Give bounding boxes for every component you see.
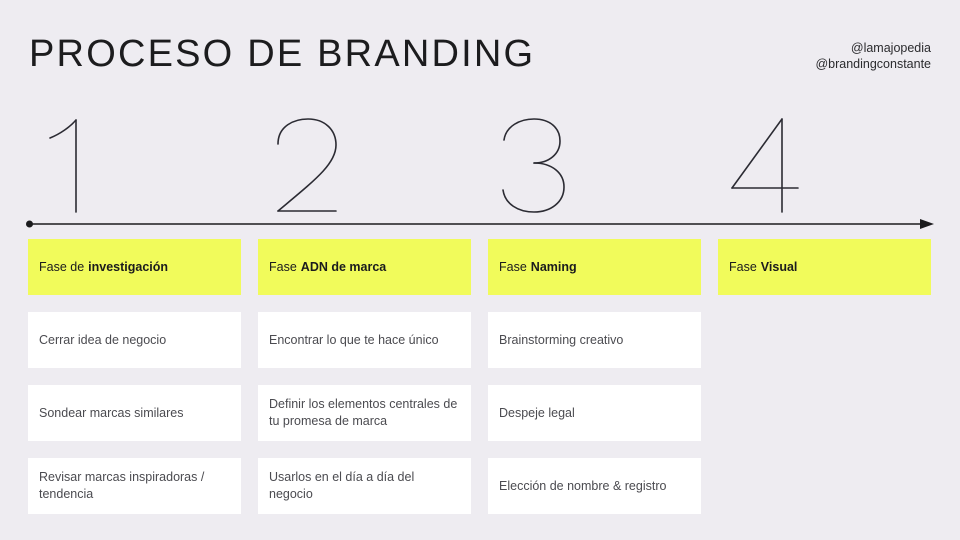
phase-header-2[interactable]: Fase ADN de marca bbox=[258, 239, 471, 295]
step-card[interactable]: Encontrar lo que te hace único bbox=[258, 312, 471, 368]
step-card[interactable]: Usarlos en el día a día del negocio bbox=[258, 458, 471, 514]
phase-prefix: Fase bbox=[729, 260, 757, 274]
step-card[interactable]: Revisar marcas inspiradoras / tendencia bbox=[28, 458, 241, 514]
page-title: PROCESO DE BRANDING bbox=[29, 31, 535, 77]
phase-name: ADN de marca bbox=[301, 260, 386, 274]
phase-prefix: Fase de bbox=[39, 260, 84, 274]
phase-name: Naming bbox=[531, 260, 577, 274]
step-card[interactable]: Definir los elementos centrales de tu pr… bbox=[258, 385, 471, 441]
phase-name: investigación bbox=[88, 260, 168, 274]
phase-column-3: Fase Naming Brainstorming creativo Despe… bbox=[488, 239, 701, 514]
phase-column-4: Fase Visual bbox=[718, 239, 931, 514]
phase-prefix: Fase bbox=[269, 260, 297, 274]
handle-primary: @lamajopedia bbox=[815, 40, 931, 56]
phase-column-1: Fase de investigación Cerrar idea de neg… bbox=[28, 239, 241, 514]
timeline-arrow bbox=[26, 216, 936, 232]
step-number-2 bbox=[268, 118, 388, 214]
step-card[interactable]: Cerrar idea de negocio bbox=[28, 312, 241, 368]
step-card[interactable]: Elección de nombre & registro bbox=[488, 458, 701, 514]
phase-header-4[interactable]: Fase Visual bbox=[718, 239, 931, 295]
phase-columns: Fase de investigación Cerrar idea de neg… bbox=[28, 239, 932, 514]
social-handles: @lamajopedia @brandingconstante bbox=[815, 40, 931, 72]
phase-name: Visual bbox=[761, 260, 798, 274]
step-number-1 bbox=[38, 118, 158, 214]
step-number-3 bbox=[496, 118, 616, 214]
step-card[interactable]: Despeje legal bbox=[488, 385, 701, 441]
handle-secondary: @brandingconstante bbox=[815, 56, 931, 72]
slide-canvas: PROCESO DE BRANDING @lamajopedia @brandi… bbox=[0, 0, 960, 540]
step-number-row bbox=[28, 118, 932, 214]
phase-prefix: Fase bbox=[499, 260, 527, 274]
timeline-arrowhead bbox=[920, 219, 934, 229]
phase-column-2: Fase ADN de marca Encontrar lo que te ha… bbox=[258, 239, 471, 514]
step-card[interactable]: Sondear marcas similares bbox=[28, 385, 241, 441]
step-number-4 bbox=[728, 118, 848, 214]
phase-header-1[interactable]: Fase de investigación bbox=[28, 239, 241, 295]
step-card[interactable]: Brainstorming creativo bbox=[488, 312, 701, 368]
phase-header-3[interactable]: Fase Naming bbox=[488, 239, 701, 295]
